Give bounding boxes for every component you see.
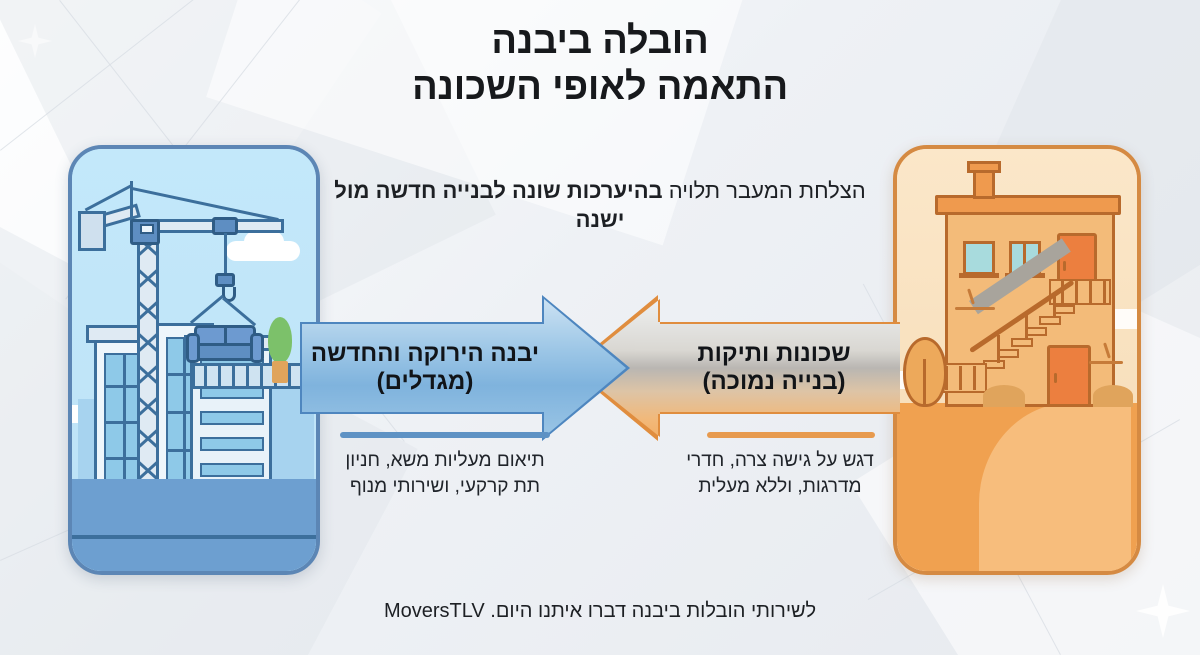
page-title: הובלה ביבנה התאמה לאופי השכונה [0, 18, 1200, 111]
title-line-2: התאמה לאופי השכונה [0, 64, 1200, 110]
arrow-old-line-2: (בנייה נמוכה) [697, 368, 850, 396]
divider-left [340, 432, 550, 438]
lower-rail-bar [973, 366, 976, 390]
tower-right-band [200, 411, 264, 425]
arrow-new-line-2: (מגדלים) [311, 368, 539, 396]
lower-rail-bar [959, 366, 962, 390]
subtitle: הצלחת המעבר תלויה בהיערכות שונה לבנייה ח… [330, 176, 870, 235]
handrail-post [997, 335, 1000, 363]
railing-bar [204, 365, 207, 387]
crane-counterweight [78, 211, 106, 251]
stair-step [1011, 338, 1033, 347]
stair-step [1053, 305, 1075, 314]
caption-left-line-2: תת קרקעי, ושירותי מנוף [320, 474, 570, 500]
arrow-label-new: יבנה הירוקה והחדשה (מגדלים) [300, 295, 550, 441]
stair-step [1025, 327, 1047, 336]
infographic-canvas: הובלה ביבנה התאמה לאופי השכונה הצלחת המע… [0, 0, 1200, 655]
caption-new-construction: תיאום מעליות משא, חניון תת קרקעי, ושירות… [320, 448, 570, 500]
handrail-post [1025, 314, 1028, 340]
handrail-post [1053, 293, 1056, 317]
bush-icon [1093, 385, 1133, 407]
left-ground [72, 479, 316, 571]
caption-left-line-1: תיאום מעליות משא, חניון [320, 448, 570, 474]
tree-trunk [923, 359, 926, 407]
caption-right-line-1: דגש על גישה צרה, חדרי [655, 448, 905, 474]
arrow-new-line-1: יבנה הירוקה והחדשה [311, 340, 539, 368]
wall-crack [1089, 361, 1123, 364]
arrow-comparison: יבנה הירוקה והחדשה (מגדלים) שכונות ותיקו… [300, 295, 900, 441]
crane-cable [224, 233, 227, 275]
railing-bar [260, 365, 263, 387]
left-ground-edge [72, 535, 316, 539]
panel-old-neighborhood [893, 145, 1141, 575]
title-line-1: הובלה ביבנה [0, 18, 1200, 64]
chimney [973, 169, 995, 199]
sofa-arm-left [186, 333, 200, 363]
railing-bar [218, 365, 221, 387]
lower-door-handle-icon [1054, 373, 1057, 383]
caption-old-neighborhood: דגש על גישה צרה, חדרי מדרגות, וללא מעלית [655, 448, 905, 500]
sofa-seat [194, 343, 256, 361]
sofa-arm-right [250, 333, 264, 363]
cloud-icon [244, 231, 284, 253]
arrow-old-line-1: שכונות ותיקות [697, 340, 850, 368]
divider-right [707, 432, 875, 438]
railing-bar [232, 365, 235, 387]
balcony-bar [1075, 281, 1078, 303]
crane-hook-block [215, 273, 235, 287]
window-left [963, 241, 995, 275]
bush-icon [983, 385, 1025, 407]
tree-icon [268, 317, 292, 363]
arrow-label-old: שכונות ותיקות (בנייה נמוכה) [648, 295, 900, 441]
subtitle-regular: הצלחת המעבר תלויה [663, 178, 866, 203]
caption-right-line-2: מדרגות, וללא מעלית [655, 474, 905, 500]
subtitle-bold: בהיערכות שונה לבנייה חדשה מול ישנה [334, 178, 662, 232]
railing-bar [288, 365, 291, 387]
crane-cabin-window [140, 224, 154, 234]
building-roof [935, 195, 1121, 215]
tower-right-band [200, 463, 264, 477]
footer-cta: לשירותי הובלות ביבנה דברו איתנו היום. Mo… [0, 600, 1200, 623]
tree-pot [272, 361, 288, 383]
window-sill [959, 273, 999, 278]
sofa-cushion-split [224, 327, 227, 345]
stair-step [1039, 316, 1061, 325]
wall-crack [955, 307, 995, 310]
panel-new-construction [68, 145, 320, 575]
balcony-bar [1103, 281, 1106, 303]
stair-step [997, 349, 1019, 358]
chimney-cap [967, 161, 1001, 173]
tower-right-band [200, 437, 264, 451]
railing-bar [246, 365, 249, 387]
balcony-bar [1089, 281, 1092, 303]
door-handle-icon [1063, 261, 1066, 271]
